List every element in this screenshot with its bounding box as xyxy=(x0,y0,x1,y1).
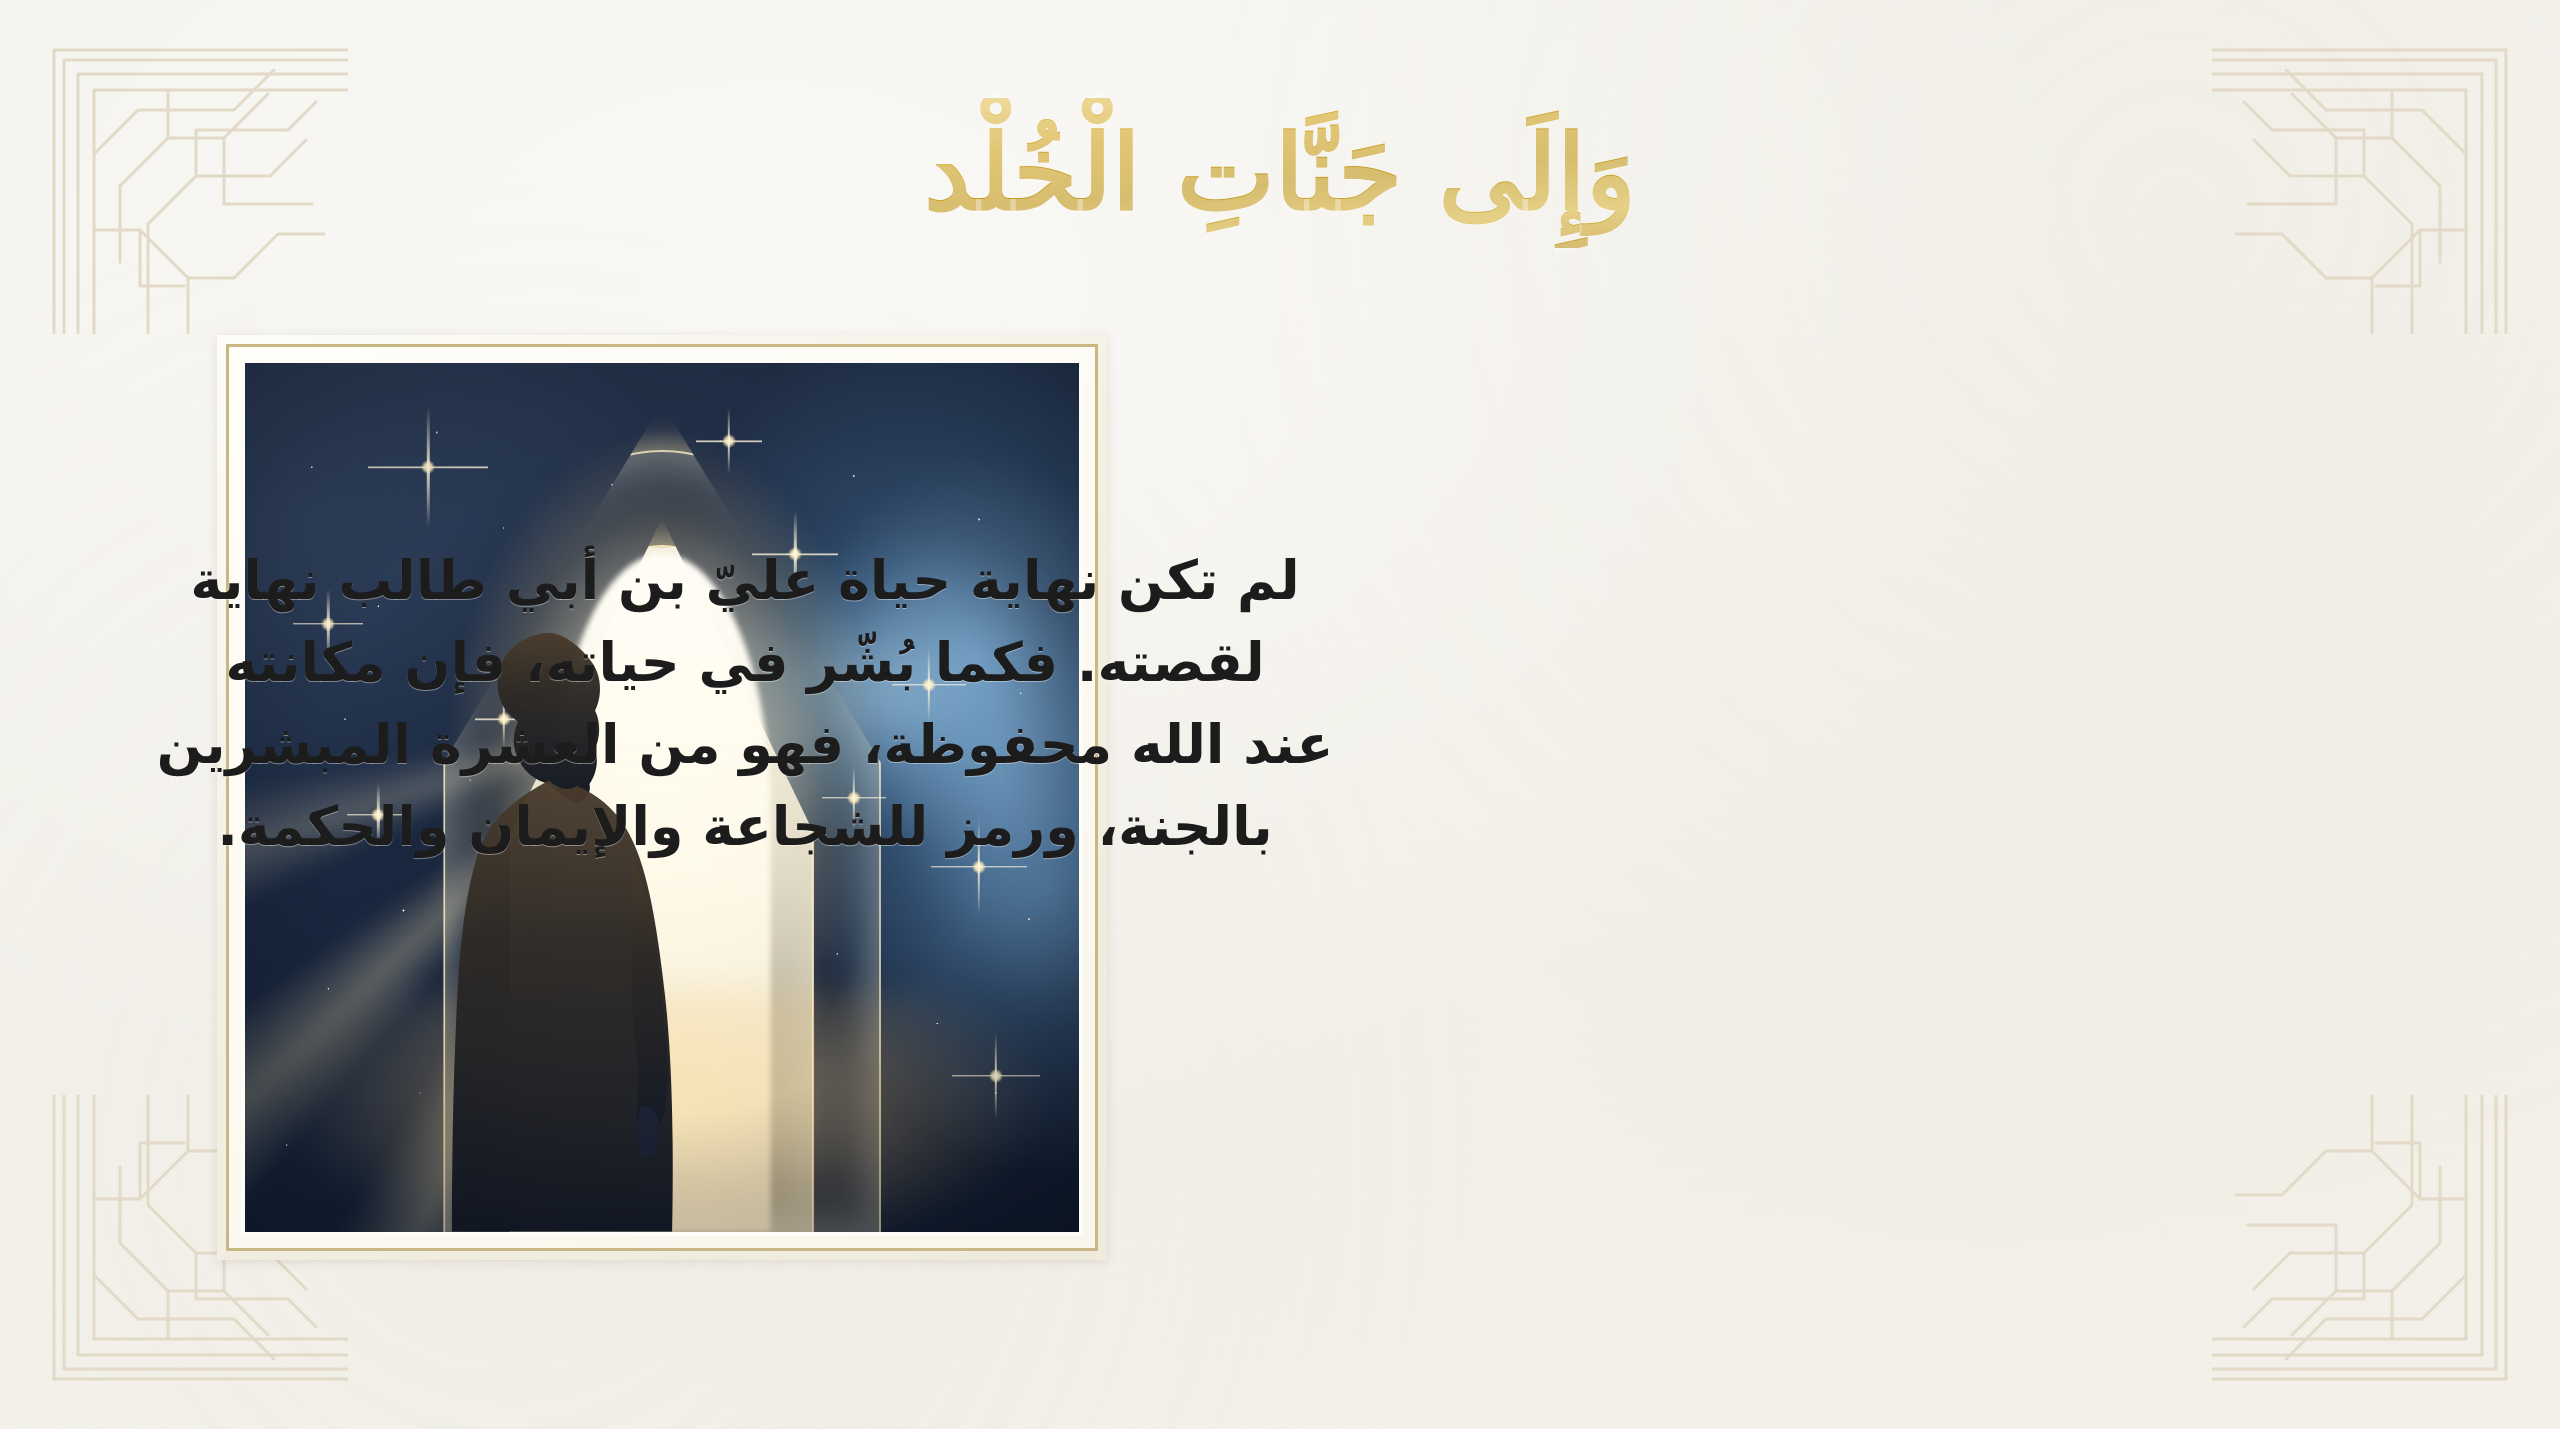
body-line: لم تكن نهاية حياة عليّ بن أبي طالب نهاية xyxy=(120,540,1370,622)
ornament-bottom-right-icon xyxy=(2212,1095,2512,1395)
slide-title-container: وَإِلَى جَنَّاتِ الْخُلْد xyxy=(0,28,2560,318)
ornament-top-left-icon xyxy=(48,34,348,334)
body-line: بالجنة، ورمز للشجاعة والإيمان والحكمة. xyxy=(120,786,1370,868)
ornament-top-right-icon xyxy=(2212,34,2512,334)
body-line: لقصته. فكما بُشّر في حياته، فإن مكانته xyxy=(120,622,1370,704)
body-line: عند الله محفوظة، فهو من العشرة المبشرين xyxy=(120,704,1370,786)
body-paragraph: لم تكن نهاية حياة عليّ بن أبي طالب نهاية… xyxy=(120,540,1370,868)
page-title: وَإِلَى جَنَّاتِ الْخُلْد xyxy=(924,98,1636,249)
slide: وَإِلَى جَنَّاتِ الْخُلْد xyxy=(0,0,2560,1429)
